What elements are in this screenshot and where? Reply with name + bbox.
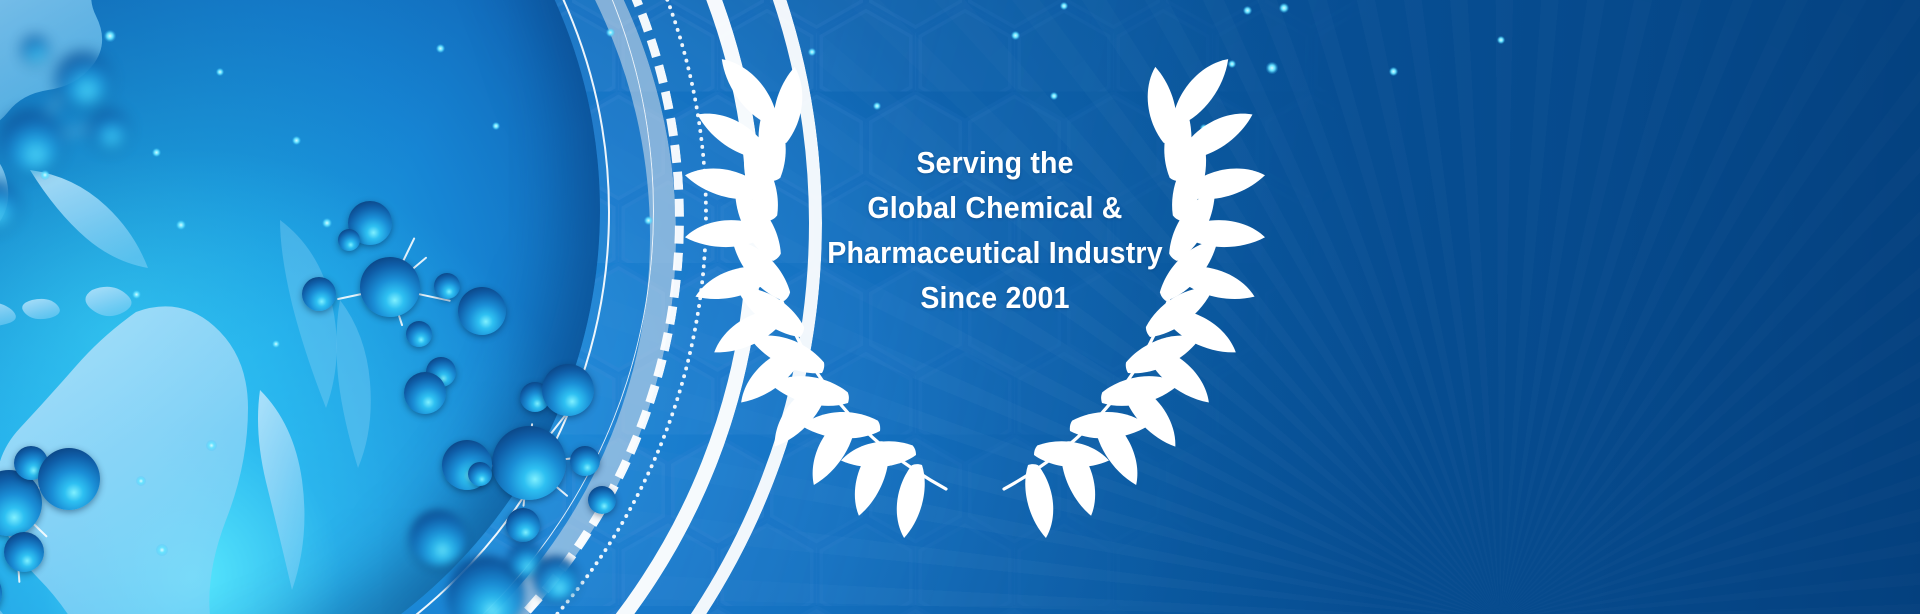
slogan-line-2: Global Chemical &	[811, 185, 1179, 230]
slogan-line-1: Serving the	[811, 140, 1179, 185]
slogan-text: Serving the Global Chemical & Pharmaceut…	[811, 140, 1179, 320]
hero-banner: Serving the Global Chemical & Pharmaceut…	[0, 0, 1920, 614]
slogan-line-4: Since 2001	[811, 275, 1179, 320]
slogan-line-3: Pharmaceutical Industry	[811, 230, 1179, 275]
